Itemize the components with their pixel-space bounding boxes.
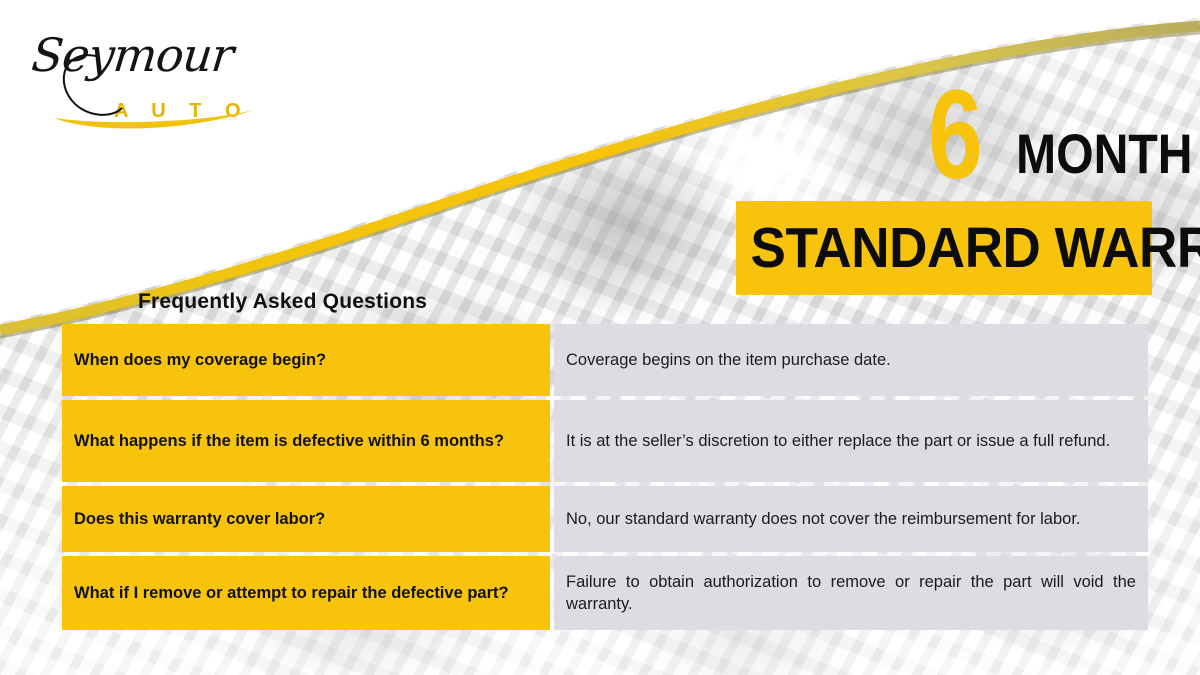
faq-question: Does this warranty cover labor? bbox=[62, 486, 550, 552]
faq-answer: Failure to obtain authorization to remov… bbox=[554, 556, 1148, 630]
standard-warranty-title: STANDARD WARRANTY bbox=[751, 220, 1138, 277]
logo-swoosh-icon bbox=[26, 22, 266, 132]
table-row: What if I remove or attempt to repair th… bbox=[62, 556, 1148, 630]
table-row: When does my coverage begin? Coverage be… bbox=[62, 324, 1148, 396]
brand-logo: Seymour A U T O bbox=[26, 22, 266, 132]
faq-answer: No, our standard warranty does not cover… bbox=[554, 486, 1148, 552]
faq-answer: Coverage begins on the item purchase dat… bbox=[554, 324, 1148, 396]
faq-heading: Frequently Asked Questions bbox=[138, 290, 427, 314]
duration-unit: MONTH bbox=[1016, 126, 1193, 182]
standard-warranty-band: STANDARD WARRANTY bbox=[736, 201, 1152, 295]
faq-question: What happens if the item is defective wi… bbox=[62, 400, 550, 482]
faq-question: When does my coverage begin? bbox=[62, 324, 550, 396]
table-row: Does this warranty cover labor? No, our … bbox=[62, 486, 1148, 552]
warranty-slide: Seymour A U T O 6 MONTH STANDARD WARRANT… bbox=[0, 0, 1200, 675]
faq-question: What if I remove or attempt to repair th… bbox=[62, 556, 550, 630]
duration-number: 6 bbox=[928, 72, 981, 198]
faq-answer: It is at the seller’s discretion to eith… bbox=[554, 400, 1148, 482]
faq-table: When does my coverage begin? Coverage be… bbox=[58, 320, 1152, 634]
table-row: What happens if the item is defective wi… bbox=[62, 400, 1148, 482]
